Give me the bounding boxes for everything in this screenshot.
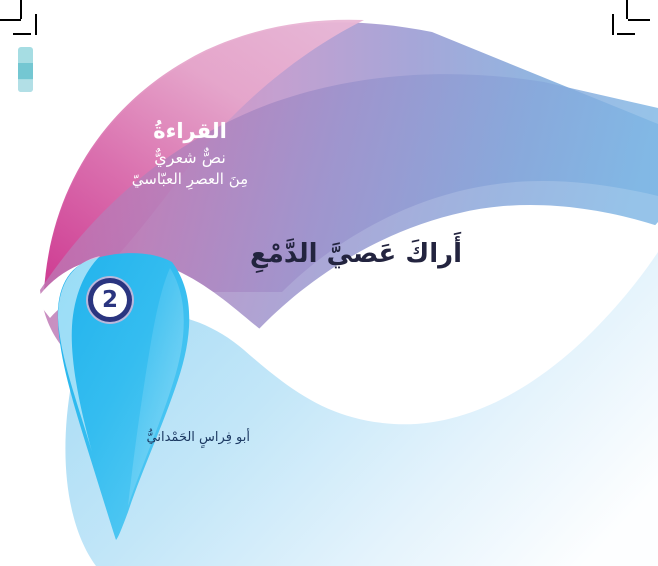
crop-mark-tr-vertical [626,0,628,19]
teal-tab-marker [18,47,33,92]
crop-mark-tl-inner-horizontal [13,33,31,35]
section-heading-block: القراءةُ نصٌّ شعريٌّ مِنَ العصرِ العبّاس… [90,118,290,191]
chapter-opener-page: القراءةُ نصٌّ شعريٌّ مِنَ العصرِ العبّاس… [0,0,658,566]
lesson-number-badge: 2 [86,276,134,324]
section-title: القراءةُ [90,118,290,144]
teal-tab-bottom-segment [18,80,33,92]
lesson-title: أَراكَ عَصيَّ الدَّمْعِ [250,239,462,269]
crop-mark-tl-vertical [20,0,22,19]
badge-core: 2 [93,283,127,317]
teal-tab-mid-segment [18,63,33,79]
crop-mark-tr-inner-vertical [612,14,614,35]
crop-mark-tr-inner-horizontal [617,33,635,35]
lesson-number-label: 2 [102,289,118,312]
section-subtitle-era: مِنَ العصرِ العبّاسيّ [90,169,290,191]
crop-mark-tl-horizontal [0,19,21,21]
author-name: أبو فِراسٍ الحَمْدانيُّ [147,430,250,445]
crop-mark-tr-horizontal [628,19,650,21]
crop-mark-tl-inner-vertical [35,14,37,35]
section-subtitle-genre: نصٌّ شعريٌّ [90,146,290,169]
